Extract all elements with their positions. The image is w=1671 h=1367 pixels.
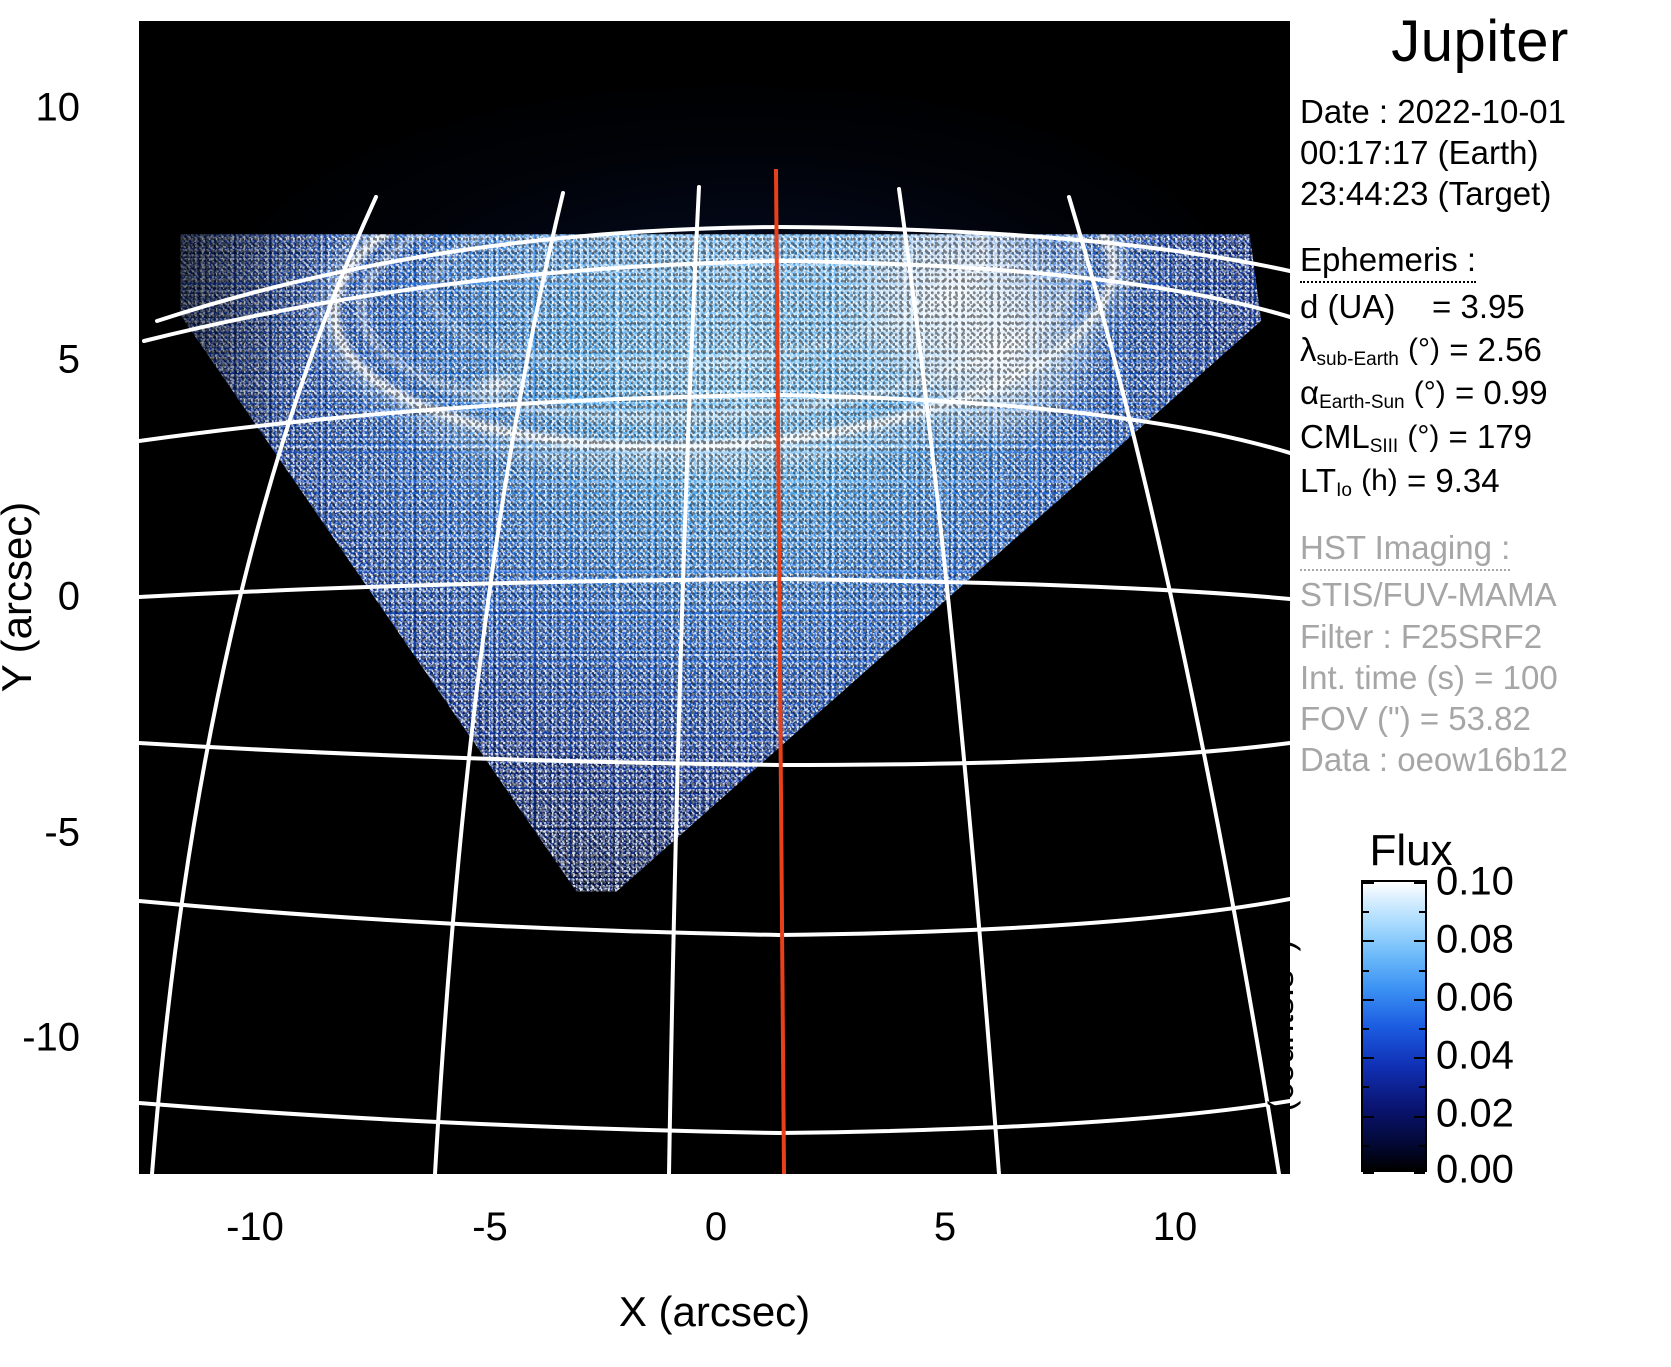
colorbar-units-exponent: -1 bbox=[1266, 951, 1289, 970]
ephemeris-value: = 179 bbox=[1449, 418, 1533, 455]
x-tick-label: 5 bbox=[934, 1205, 956, 1250]
ephemeris-label: CML bbox=[1300, 418, 1370, 455]
ephemeris-subscript: SIII bbox=[1370, 436, 1399, 457]
colorbar-units: (counts.s-1) bbox=[1262, 940, 1302, 1112]
instrument-detector: STIS/FUV-MAMA bbox=[1300, 574, 1660, 615]
y-tick-label: -5 bbox=[44, 811, 80, 856]
observation-time-target: 23:44:23 (Target) bbox=[1300, 173, 1660, 214]
ephemeris-subscript: Earth-Sun bbox=[1319, 392, 1405, 413]
colorbar-tick-label: 0.10 bbox=[1436, 860, 1514, 905]
ephemeris-heading: Ephemeris : bbox=[1300, 241, 1476, 283]
colorbar-tick-label: 0.00 bbox=[1436, 1148, 1514, 1193]
x-tick-label: 0 bbox=[705, 1205, 727, 1250]
ephemeris-row-io-local-time: LTIo (h) = 9.34 bbox=[1300, 460, 1660, 504]
limb-darkening bbox=[139, 21, 1290, 1174]
parallel-50s bbox=[139, 899, 1290, 935]
ephemeris-row-sub-earth-latitude: λsub-Earth (°) = 2.56 bbox=[1300, 329, 1660, 373]
colorbar-gradient bbox=[1361, 880, 1427, 1172]
sky-image-plot bbox=[139, 21, 1290, 1174]
ephemeris-row-cml: CMLSIII (°) = 179 bbox=[1300, 416, 1660, 460]
instrument-fov: FOV (") = 53.82 bbox=[1300, 698, 1660, 739]
ephemeris-value: = 2.56 bbox=[1449, 331, 1542, 368]
ephemeris-unit: (h) bbox=[1361, 464, 1398, 497]
ephemeris-unit: (°) bbox=[1408, 333, 1440, 366]
ephemeris-unit: (°) bbox=[1407, 420, 1439, 453]
ephemeris-label: d (UA) bbox=[1300, 288, 1395, 325]
ephemeris-label: α bbox=[1300, 374, 1319, 411]
ephemeris-row-distance: d (UA) = 3.95 bbox=[1300, 286, 1660, 329]
parallel-60s bbox=[139, 1101, 1290, 1133]
x-tick-label: 10 bbox=[1153, 1205, 1198, 1250]
colorbar-tick-label: 0.08 bbox=[1436, 918, 1514, 963]
y-axis-title: Y (arcsec) bbox=[0, 502, 41, 693]
y-tick-label: -10 bbox=[22, 1016, 80, 1061]
colorbar-tick-label: 0.04 bbox=[1436, 1034, 1514, 1079]
y-tick-label: 0 bbox=[58, 575, 80, 620]
observation-time-earth: 00:17:17 (Earth) bbox=[1300, 132, 1660, 173]
instrument-heading: HST Imaging : bbox=[1300, 529, 1510, 571]
colorbar-units-prefix: (counts.s bbox=[1262, 970, 1301, 1112]
y-tick-label: 10 bbox=[36, 86, 81, 131]
observation-info-panel: Jupiter Date : 2022-10-01 00:17:17 (Eart… bbox=[1300, 12, 1660, 781]
colorbar-tick-label: 0.02 bbox=[1436, 1092, 1514, 1137]
x-tick-label: -10 bbox=[226, 1205, 284, 1250]
instrument-filter: Filter : F25SRF2 bbox=[1300, 616, 1660, 657]
observation-date: Date : 2022-10-01 bbox=[1300, 91, 1660, 132]
instrument-integration-time: Int. time (s) = 100 bbox=[1300, 657, 1660, 698]
planet-disc-data bbox=[139, 21, 1290, 1174]
y-tick-label: 5 bbox=[58, 338, 80, 383]
colorbar-tick-label: 0.06 bbox=[1436, 976, 1514, 1021]
ephemeris-value: = 9.34 bbox=[1407, 462, 1500, 499]
target-name: Jupiter bbox=[1300, 12, 1660, 73]
instrument-dataset-id: Data : oeow16b12 bbox=[1300, 739, 1660, 780]
ephemeris-value: = 3.95 bbox=[1432, 288, 1525, 325]
ephemeris-label: λ bbox=[1300, 331, 1317, 368]
colorbar-units-suffix: ) bbox=[1262, 940, 1301, 952]
ephemeris-subscript: sub-Earth bbox=[1317, 349, 1399, 370]
x-axis-title: X (arcsec) bbox=[139, 1288, 1290, 1336]
ephemeris-value: = 0.99 bbox=[1455, 374, 1548, 411]
ephemeris-subscript: Io bbox=[1336, 480, 1352, 501]
x-tick-label: -5 bbox=[472, 1205, 508, 1250]
ephemeris-row-phase-angle: αEarth-Sun (°) = 0.99 bbox=[1300, 372, 1660, 416]
ephemeris-label: LT bbox=[1300, 462, 1336, 499]
ephemeris-unit: (°) bbox=[1414, 376, 1446, 409]
